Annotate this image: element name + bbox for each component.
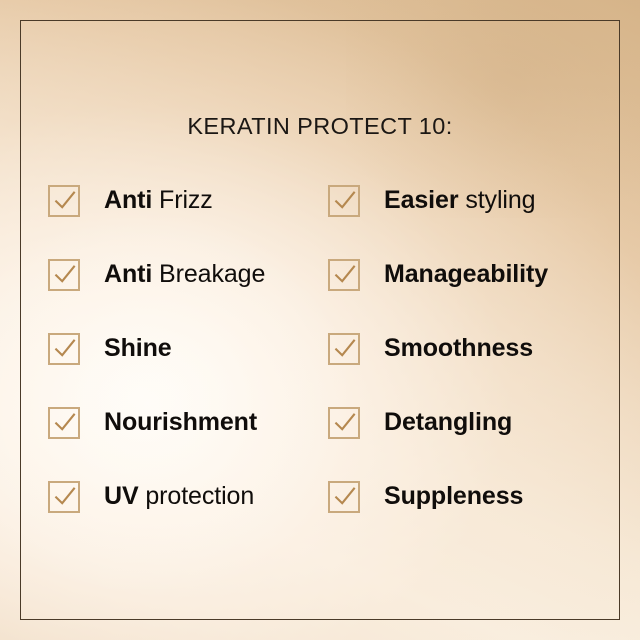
benefits-column-left: Anti FrizzAnti BreakageShineNourishmentU… xyxy=(48,183,265,553)
check-icon xyxy=(52,410,78,436)
checkbox-checked[interactable] xyxy=(48,407,80,439)
checkbox-checked[interactable] xyxy=(48,481,80,513)
benefits-column-right: Easier stylingManageabilitySmoothnessDet… xyxy=(328,183,548,553)
benefit-label-bold: Smoothness xyxy=(384,334,533,362)
check-icon xyxy=(52,484,78,510)
checkbox-checked[interactable] xyxy=(328,185,360,217)
benefit-label-bold: Nourishment xyxy=(104,408,257,436)
benefit-label-regular: styling xyxy=(458,186,535,214)
benefit-label: Anti Breakage xyxy=(104,257,265,291)
benefit-row: Manageability xyxy=(328,257,548,331)
benefit-label-bold: Suppleness xyxy=(384,482,523,510)
benefit-label: Smoothness xyxy=(384,331,533,365)
benefit-row: Shine xyxy=(48,331,265,405)
poster-content: KERATIN PROTECT 10: Anti FrizzAnti Break… xyxy=(0,0,640,640)
checkbox-checked[interactable] xyxy=(48,333,80,365)
keratin-protect-poster: KERATIN PROTECT 10: Anti FrizzAnti Break… xyxy=(0,0,640,640)
benefit-label-bold: Manageability xyxy=(384,260,548,288)
checkbox-checked[interactable] xyxy=(328,333,360,365)
benefit-label: Shine xyxy=(104,331,172,365)
benefit-row: Easier styling xyxy=(328,183,548,257)
benefit-label: Anti Frizz xyxy=(104,183,213,217)
benefit-label-regular: Breakage xyxy=(152,260,265,288)
benefit-label: Easier styling xyxy=(384,183,535,217)
benefit-label: Detangling xyxy=(384,405,512,439)
benefit-row: Detangling xyxy=(328,405,548,479)
checkbox-checked[interactable] xyxy=(328,259,360,291)
benefit-label-bold: UV xyxy=(104,482,139,510)
benefit-label-bold: Detangling xyxy=(384,408,512,436)
benefit-label: Manageability xyxy=(384,257,548,291)
benefit-row: UV protection xyxy=(48,479,265,553)
benefit-row: Suppleness xyxy=(328,479,548,553)
checkbox-checked[interactable] xyxy=(328,481,360,513)
check-icon xyxy=(332,484,358,510)
check-icon xyxy=(52,336,78,362)
check-icon xyxy=(52,262,78,288)
benefit-label-bold: Shine xyxy=(104,334,172,362)
check-icon xyxy=(332,262,358,288)
check-icon xyxy=(52,188,78,214)
checkbox-checked[interactable] xyxy=(48,185,80,217)
benefit-label-bold: Anti xyxy=(104,260,152,288)
checkbox-checked[interactable] xyxy=(48,259,80,291)
benefit-row: Nourishment xyxy=(48,405,265,479)
benefit-label-regular: Frizz xyxy=(152,186,213,214)
page-title: KERATIN PROTECT 10: xyxy=(0,113,640,140)
benefit-label: UV protection xyxy=(104,479,254,513)
benefit-row: Anti Breakage xyxy=(48,257,265,331)
check-icon xyxy=(332,410,358,436)
benefit-row: Anti Frizz xyxy=(48,183,265,257)
check-icon xyxy=(332,188,358,214)
benefit-label-bold: Anti xyxy=(104,186,152,214)
benefit-label-regular: protection xyxy=(139,482,255,510)
checkbox-checked[interactable] xyxy=(328,407,360,439)
check-icon xyxy=(332,336,358,362)
benefit-label: Suppleness xyxy=(384,479,523,513)
benefit-label-bold: Easier xyxy=(384,186,458,214)
benefit-row: Smoothness xyxy=(328,331,548,405)
benefit-label: Nourishment xyxy=(104,405,257,439)
